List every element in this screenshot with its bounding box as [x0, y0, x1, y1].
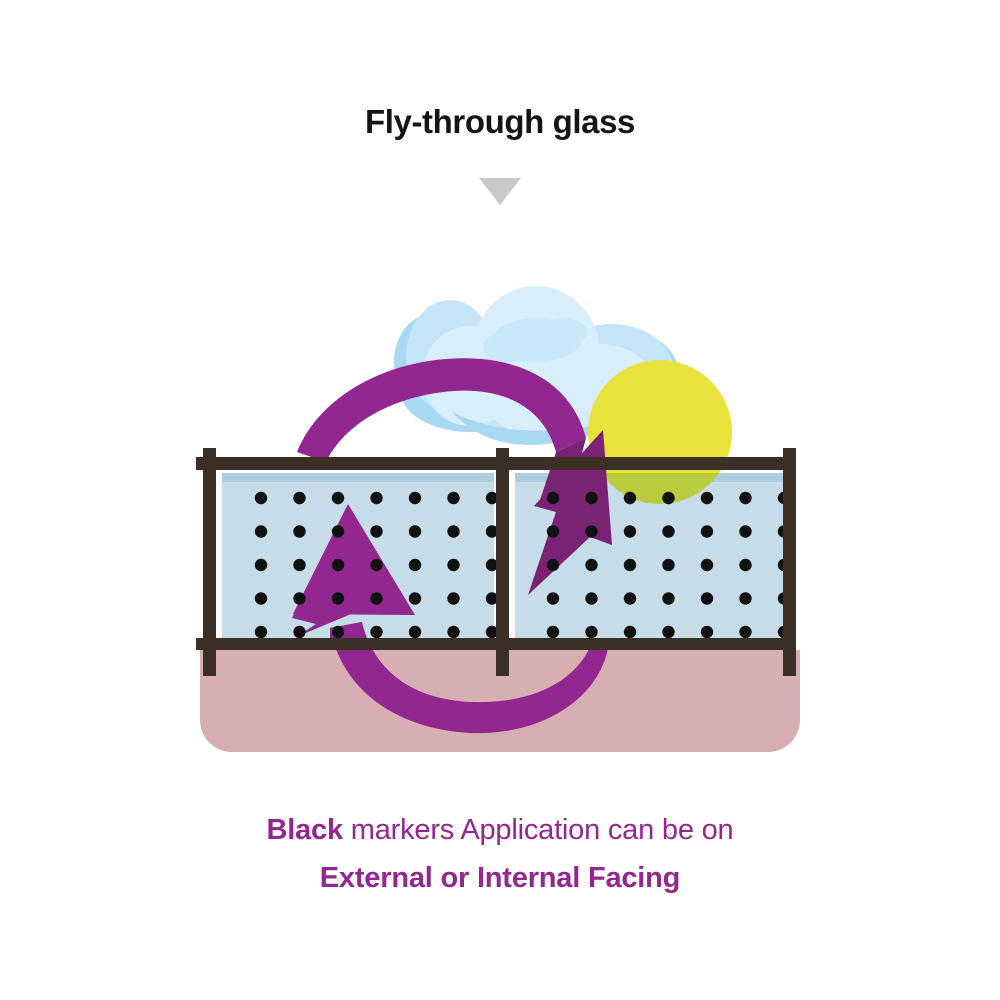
caption-rest-text: markers Application can be on — [343, 814, 734, 846]
fly-through-glass-diagram — [0, 0, 1000, 1000]
glass-marker-dot — [547, 626, 559, 638]
glass-marker-dot — [293, 592, 305, 604]
glass-marker-dot — [255, 492, 267, 504]
glass-marker-dot — [255, 559, 267, 571]
glass-marker-dot — [293, 525, 305, 537]
glass-marker-dot — [624, 626, 636, 638]
glass-marker-dot — [332, 626, 344, 638]
glass-marker-dot — [332, 525, 344, 537]
glass-marker-dot — [409, 525, 421, 537]
glass-marker-dot — [409, 626, 421, 638]
glass-marker-dot — [547, 492, 559, 504]
glass-marker-dot — [370, 592, 382, 604]
glass-marker-dot — [547, 525, 559, 537]
glass-marker-dot — [255, 626, 267, 638]
page-root: Fly-through glass — [0, 0, 1000, 1000]
glass-marker-dot — [739, 559, 751, 571]
fence-post-center — [496, 448, 509, 676]
fence-post-left — [203, 448, 216, 676]
glass-marker-dot — [332, 492, 344, 504]
glass-marker-dot — [409, 492, 421, 504]
glass-marker-dot — [255, 525, 267, 537]
glass-marker-dot — [370, 492, 382, 504]
glass-marker-dot — [662, 492, 674, 504]
glass-marker-dot — [585, 559, 597, 571]
glass-marker-dot — [624, 592, 636, 604]
glass-marker-dot — [624, 492, 636, 504]
glass-marker-dot — [293, 492, 305, 504]
glass-marker-dot — [662, 592, 674, 604]
glass-marker-dot — [447, 492, 459, 504]
caption-line-2: External or Internal Facing — [0, 862, 1000, 895]
glass-marker-dot — [332, 559, 344, 571]
glass-marker-dot — [293, 626, 305, 638]
glass-marker-dot — [662, 525, 674, 537]
glass-marker-dot — [624, 525, 636, 537]
glass-marker-dot — [370, 559, 382, 571]
glass-marker-dot — [739, 626, 751, 638]
caption-strong-word: Black — [267, 814, 343, 846]
glass-marker-dot — [739, 492, 751, 504]
fence-post-right — [783, 448, 796, 676]
glass-marker-dot — [547, 559, 559, 571]
glass-marker-dot — [701, 626, 713, 638]
glass-marker-dot — [255, 592, 267, 604]
glass-marker-dot — [409, 559, 421, 571]
glass-marker-dot — [739, 525, 751, 537]
glass-marker-dot — [585, 592, 597, 604]
glass-marker-dot — [332, 592, 344, 604]
glass-marker-dot — [701, 525, 713, 537]
glass-marker-dot — [585, 525, 597, 537]
glass-marker-dot — [547, 592, 559, 604]
glass-marker-dot — [701, 559, 713, 571]
glass-marker-dot — [409, 592, 421, 604]
glass-marker-dot — [624, 559, 636, 571]
glass-marker-dot — [585, 492, 597, 504]
glass-marker-dot — [662, 626, 674, 638]
glass-marker-dot — [447, 592, 459, 604]
glass-marker-dot — [447, 525, 459, 537]
glass-marker-dot — [585, 626, 597, 638]
glass-marker-dot — [370, 626, 382, 638]
glass-marker-dot — [447, 626, 459, 638]
glass-marker-dot — [701, 592, 713, 604]
glass-marker-dot — [293, 559, 305, 571]
glass-marker-dot — [447, 559, 459, 571]
glass-marker-dot — [701, 492, 713, 504]
glass-marker-dot — [739, 592, 751, 604]
glass-marker-dot — [370, 525, 382, 537]
glass-marker-dot — [662, 559, 674, 571]
caption-line-1: Black markers Application can be on — [0, 814, 1000, 847]
